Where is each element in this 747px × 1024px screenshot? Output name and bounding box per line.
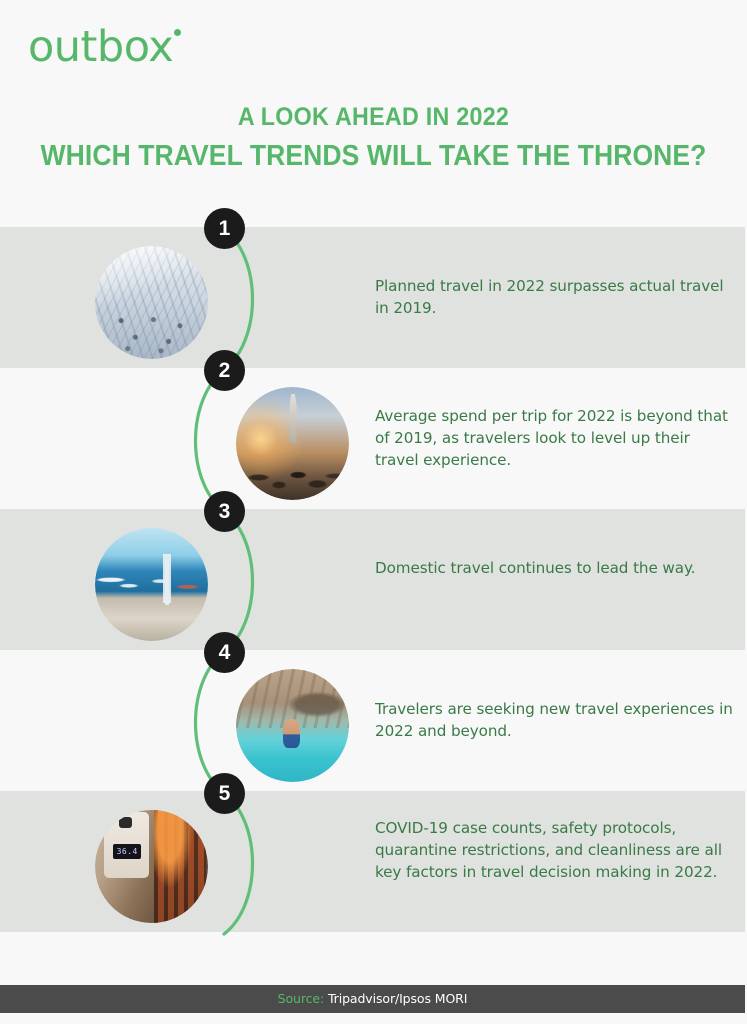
- thermometer-lcd-reading: 36.4: [113, 844, 141, 859]
- item-text: Travelers are seeking new travel experie…: [375, 698, 735, 742]
- step-badge-3: 3: [204, 491, 245, 532]
- list-item: Planned travel in 2022 surpasses actual …: [0, 232, 747, 373]
- item-text: COVID-19 case counts, safety protocols, …: [375, 817, 735, 884]
- item-text: Average spend per trip for 2022 is beyon…: [375, 405, 735, 472]
- logo-dot-icon: [174, 29, 181, 36]
- photo-image: [236, 669, 349, 782]
- step-badge-2: 2: [204, 350, 245, 391]
- photo-image: [95, 528, 208, 641]
- step-badge-1: 1: [204, 208, 245, 249]
- step-badge-4: 4: [204, 632, 245, 673]
- logo-wordmark: outbox: [28, 22, 173, 72]
- source-label: Source:: [278, 991, 324, 1006]
- page-title-block: A LOOK AHEAD IN 2022 WHICH TRAVEL TRENDS…: [0, 102, 747, 173]
- cliff-jump-turquoise-water-photo: [236, 669, 349, 782]
- list-item: Domestic travel continues to lead the wa…: [0, 514, 747, 655]
- page-title-line2: WHICH TRAVEL TRENDS WILL TAKE THE THRONE…: [26, 139, 721, 174]
- source-value: Tripadvisor/Ipsos MORI: [328, 991, 467, 1006]
- list-item: Average spend per trip for 2022 is beyon…: [0, 373, 747, 514]
- infographic-page: outbox A LOOK AHEAD IN 2022 WHICH TRAVEL…: [0, 0, 747, 1024]
- coastal-harbor-photo: [95, 528, 208, 641]
- page-title-line1: A LOOK AHEAD IN 2022: [26, 102, 721, 133]
- step-badge-5: 5: [204, 773, 245, 814]
- city-square-sunset-photo: [236, 387, 349, 500]
- dispenser-nozzle-icon: [119, 817, 133, 828]
- sanitizer-thermometer-photo: 36.4: [95, 810, 208, 923]
- source-footer: Source: Tripadvisor/Ipsos MORI: [0, 985, 745, 1013]
- photo-image: [95, 246, 208, 359]
- list-item: Travelers are seeking new travel experie…: [0, 655, 747, 796]
- airport-terminal-photo: [95, 246, 208, 359]
- outbox-logo: outbox: [28, 26, 181, 69]
- photo-image: [236, 387, 349, 500]
- item-text: Domestic travel continues to lead the wa…: [375, 557, 735, 579]
- list-item: 36.4 COVID-19 case counts, safety protoc…: [0, 796, 747, 937]
- item-text: Planned travel in 2022 surpasses actual …: [375, 275, 735, 319]
- photo-image: [95, 810, 208, 923]
